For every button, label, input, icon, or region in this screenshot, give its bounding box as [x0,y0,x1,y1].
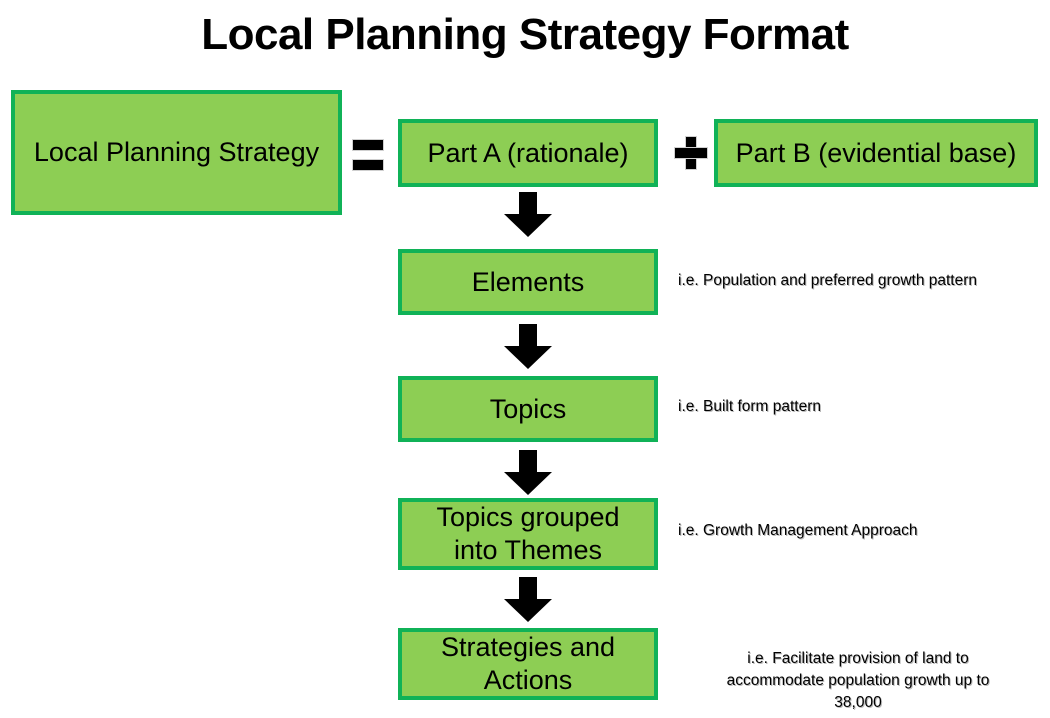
node-label: Part B (evidential base) [730,137,1023,170]
node-topics-grouped-into-themes: Topics grouped into Themes [398,498,658,570]
plus-horizontal-bar [674,147,708,159]
node-label: Elements [466,266,591,299]
node-label: Strategies and Actions [435,631,621,697]
node-part-a: Part A (rationale) [398,119,658,187]
arrow-down-block-icon [500,192,556,238]
arrow-down-block-icon [500,324,556,370]
annotation-topics: i.e. Built form pattern [678,396,1050,418]
arrow-down-block-icon [500,577,556,623]
node-strategies-and-actions: Strategies and Actions [398,628,658,700]
arrow-down-block-icon [500,450,556,496]
plus-sign-icon [674,136,708,170]
node-label: Topics grouped into Themes [430,501,625,567]
node-label: Topics [484,393,573,426]
node-local-planning-strategy: Local Planning Strategy [11,90,342,215]
node-elements: Elements [398,249,658,315]
equals-bar-bottom [352,159,384,171]
node-label: Part A (rationale) [421,137,634,170]
equals-bar-top [352,139,384,151]
node-topics: Topics [398,376,658,442]
node-part-b: Part B (evidential base) [714,119,1038,187]
page-title: Local Planning Strategy Format [0,8,1050,62]
node-label: Local Planning Strategy [28,136,325,169]
annotation-elements: i.e. Population and preferred growth pat… [678,270,1050,292]
equals-sign-icon [352,139,384,171]
annotation-themes: i.e. Growth Management Approach [678,520,1050,542]
annotation-strategies: i.e. Facilitate provision of land to acc… [672,648,1044,714]
